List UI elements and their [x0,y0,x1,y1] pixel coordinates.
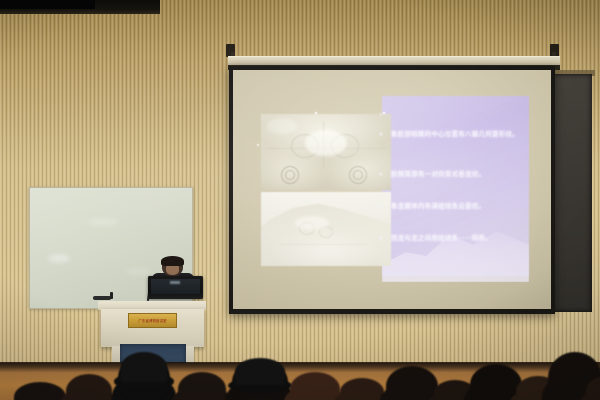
bullet-dot-icon [380,113,382,115]
list-item-label: 象龙躯体内布满组线条云雷纹。 [386,202,527,211]
bucket-hat-crown [121,352,167,382]
audience-member-head [290,372,340,400]
rubbing-line [281,244,367,245]
projection-screen: 象脸部眼睛的中心位置有八瓣几何菱形纹。 脸侧耳部有一对向背式卷龙纹。 象龙躯体内… [233,70,551,309]
podium-plaque-label: 广东省博物馆讲堂 [138,319,166,323]
audience-member-head [66,374,112,400]
photo-highlight [295,216,329,230]
list-item: 而龙与龙之间用组线条⋯⋯隔断。 [386,234,527,243]
photo-highlight [267,118,297,134]
bullet-dot-icon [380,237,382,239]
bronze-elephant-mask-photo [261,114,391,190]
lecture-hall-photo: 象脸部眼睛的中心位置有八瓣几何菱形纹。 脸侧耳部有一对向背式卷龙纹。 象龙躯体内… [0,0,600,400]
bullet-dot-icon [380,133,382,135]
microphone-stem[interactable] [110,292,113,299]
list-item-label: 而龙与龙之间用组线条⋯⋯隔断。 [386,234,527,243]
list-item-label: 脸侧耳部有一对向背式卷龙纹。 [386,170,527,179]
artifact-rubbing-photo [261,192,391,266]
whiteboard-smudge [126,268,152,275]
list-item: 脸侧耳部有一对向背式卷龙纹。 [386,170,527,179]
list-item-label: 象脸部眼睛的中心位置有八瓣几何菱形纹。 [386,130,527,139]
audience-member-head [178,372,226,400]
whiteboard-smudge [88,218,118,226]
bucket-hat-crown [235,358,285,385]
presentation-slide: 象脸部眼睛的中心位置有八瓣几何菱形纹。 脸侧耳部有一对向背式卷龙纹。 象龙躯体内… [255,100,529,282]
spiral-eye-motif-inner [353,170,363,180]
photo-highlight [305,130,347,156]
list-item: 象龙躯体内布满组线条云雷纹。 [386,202,527,211]
presenter-hair [161,256,184,266]
spiral-eye-motif-inner [285,170,295,180]
whiteboard-smudge [48,254,70,263]
podium-plaque: 广东省博物馆讲堂 [128,313,177,328]
audience-member-head [340,378,384,400]
ceiling-shadow-strip-inner [0,0,95,9]
bullet-dot-icon [380,205,382,207]
microphone-base[interactable] [93,296,111,300]
slide-bullet-list: 象脸部眼睛的中心位置有八瓣几何菱形纹。 脸侧耳部有一对向背式卷龙纹。 象龙躯体内… [386,108,527,276]
monitor-glint [170,281,180,284]
projector-specular-dot [257,144,259,146]
list-item: 象脸部眼睛的中心位置有八瓣几何菱形纹。 [386,130,527,139]
audience-member-head [386,366,438,400]
bullet-dot-icon [380,173,382,175]
